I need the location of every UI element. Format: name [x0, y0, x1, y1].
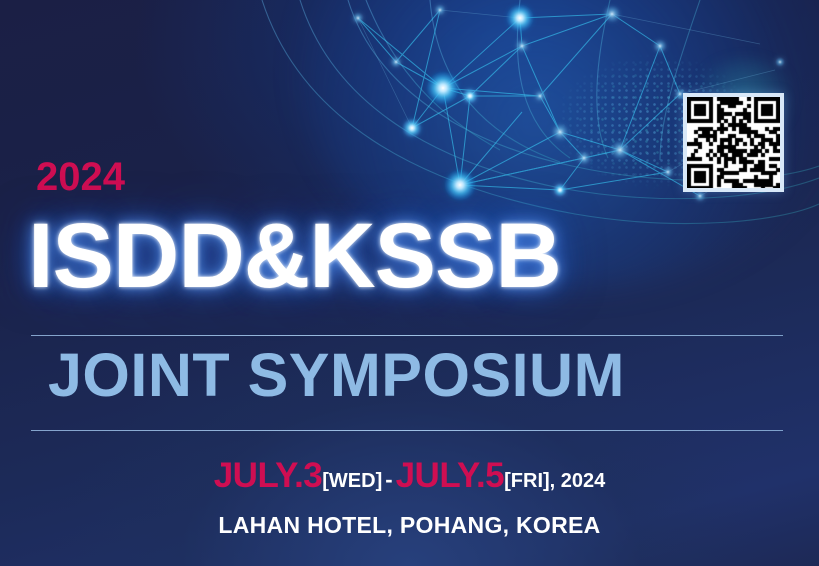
date-separator: - [382, 467, 395, 492]
event-start-date: JULY.3 [214, 456, 323, 495]
divider-bottom [31, 430, 783, 431]
event-subtitle: JOINT SYMPOSIUM [48, 345, 788, 406]
event-venue: LAHAN HOTEL, POHANG, KOREA [0, 512, 819, 539]
divider-top [31, 335, 783, 336]
event-end-weekday-year: [FRI], 2024 [504, 470, 605, 492]
event-start-weekday: [WED] [322, 470, 382, 492]
event-date-line: JULY.3[WED]-JULY.5[FRI], 2024 [0, 458, 819, 493]
poster-text-content: 2024 ISDD&KSSB JOINT SYMPOSIUM JULY.3[WE… [0, 0, 819, 566]
event-end-date: JULY.5 [396, 456, 505, 495]
page-title: ISDD&KSSB [28, 210, 798, 302]
symposium-poster: 2024 ISDD&KSSB JOINT SYMPOSIUM JULY.3[WE… [0, 0, 819, 566]
event-year: 2024 [36, 157, 125, 197]
